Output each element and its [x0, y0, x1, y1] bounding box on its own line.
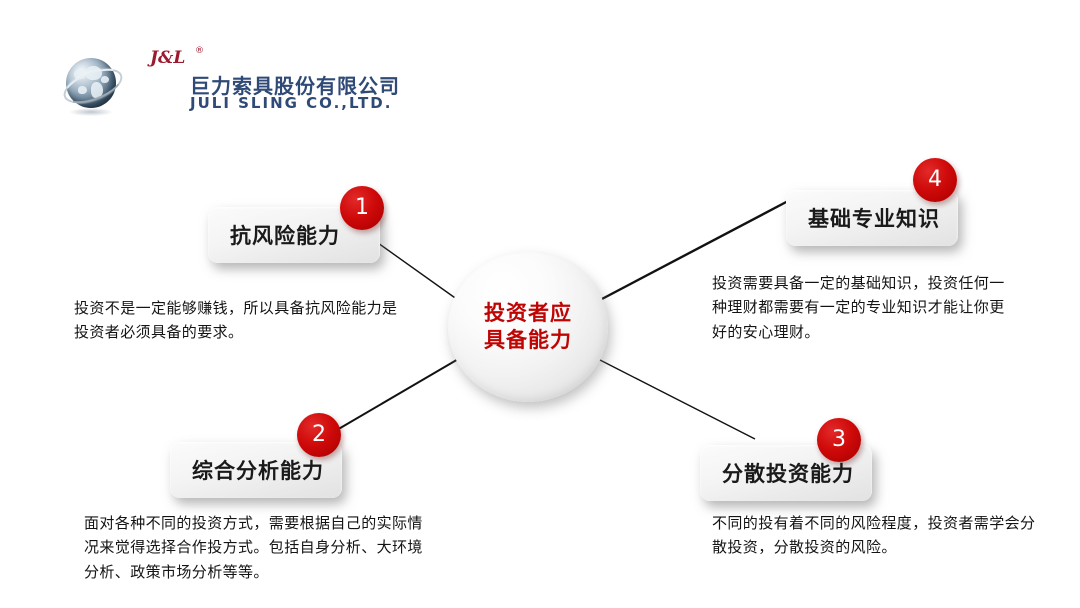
node-title-3: 分散投资能力	[700, 458, 854, 488]
connector-line-3	[600, 360, 755, 439]
node-description-2: 面对各种不同的投资方式，需要根据自己的实际情况来觉得选择合作投方式。包括自身分析…	[84, 511, 434, 584]
node-description-4: 投资需要具备一定的基础知识，投资任何一种理财都需要有一定的专业知识才能让你更好的…	[712, 271, 1012, 344]
node-description-3: 不同的投有着不同的风险程度，投资者需学会分散投资，分散投资的风险。	[712, 511, 1042, 560]
node-badge-4: 4	[913, 158, 957, 202]
node-title-2: 综合分析能力	[170, 455, 324, 485]
node-badge-1: 1	[340, 186, 384, 230]
node-title-4: 基础专业知识	[786, 203, 940, 233]
center-hub-line-1: 投资者应	[484, 300, 572, 327]
connector-line-1	[378, 243, 458, 300]
node-badge-3: 3	[817, 418, 861, 462]
node-badge-2: 2	[297, 413, 341, 457]
node-description-1: 投资不是一定能够赚钱，所以具备抗风险能力是投资者必须具备的要求。	[74, 296, 404, 345]
center-hub-label: 投资者应 具备能力	[484, 300, 572, 355]
center-hub-line-2: 具备能力	[484, 327, 572, 354]
slide-canvas: J&L ® 巨力索具股份有限公司 JULI SLING CO.,LTD. 投资者…	[0, 0, 1080, 608]
connector-line-2	[330, 358, 460, 434]
center-hub: 投资者应 具备能力	[448, 252, 608, 402]
node-title-1: 抗风险能力	[208, 220, 340, 250]
